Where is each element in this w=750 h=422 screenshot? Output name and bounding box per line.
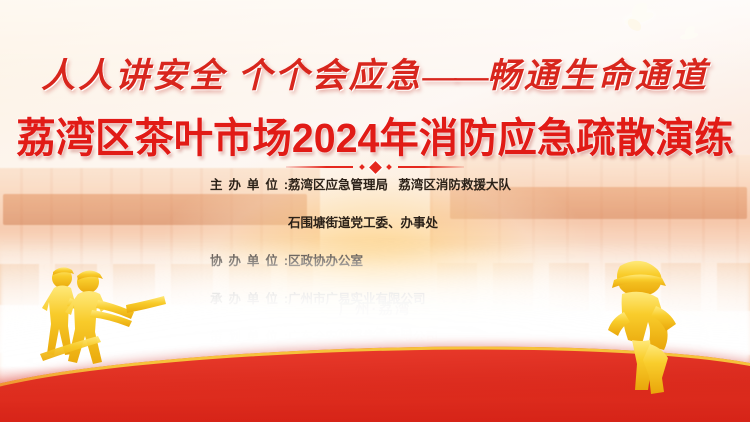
diamond-ornament-icon [359,164,365,170]
credit-row: 主办单位: 石围塘街道党工委、办事处 [210,214,540,252]
divider-bar-left [286,166,353,168]
credit-value: 石围塘街道党工委、办事处 [288,214,540,252]
dove-icon [623,11,654,27]
credit-row: 协办单位: 区政协办公室 [210,252,540,290]
place-and-date: 广州·荔湾 2024年6月 [0,298,750,344]
divider [286,160,464,174]
diamond-ornament-icon [386,164,392,170]
place-text: 广州·荔湾 [0,298,750,319]
fire-drill-poster: 人人讲安全 个个会应急——畅通生命通道 荔湾区茶叶市场2024年消防应急疏散演练… [0,0,750,422]
dove-icon [680,32,699,40]
credit-row: 主办单位: 荔湾区应急管理局 荔湾区消防救援大队 [210,176,540,214]
slogan-dash: —— [423,58,487,95]
diamond-ornament-icon [369,161,382,174]
credit-label: 协办单位: [210,252,288,290]
date-text: 2024年6月 [0,323,750,344]
credit-value: 荔湾区应急管理局 荔湾区消防救援大队 [288,176,540,214]
slogan-part-1: 人人讲安全 个个会应急 [41,58,423,95]
credit-value: 区政协办公室 [288,252,540,290]
page-title: 荔湾区茶叶市场2024年消防应急疏散演练 [15,104,735,164]
credit-label: 主办单位: [210,176,288,214]
slogan-part-2: 畅通生命通道 [487,58,709,95]
poster-slogan: 人人讲安全 个个会应急——畅通生命通道 [0,48,750,97]
ground-glow [0,366,750,422]
divider-bar-right [398,166,465,168]
